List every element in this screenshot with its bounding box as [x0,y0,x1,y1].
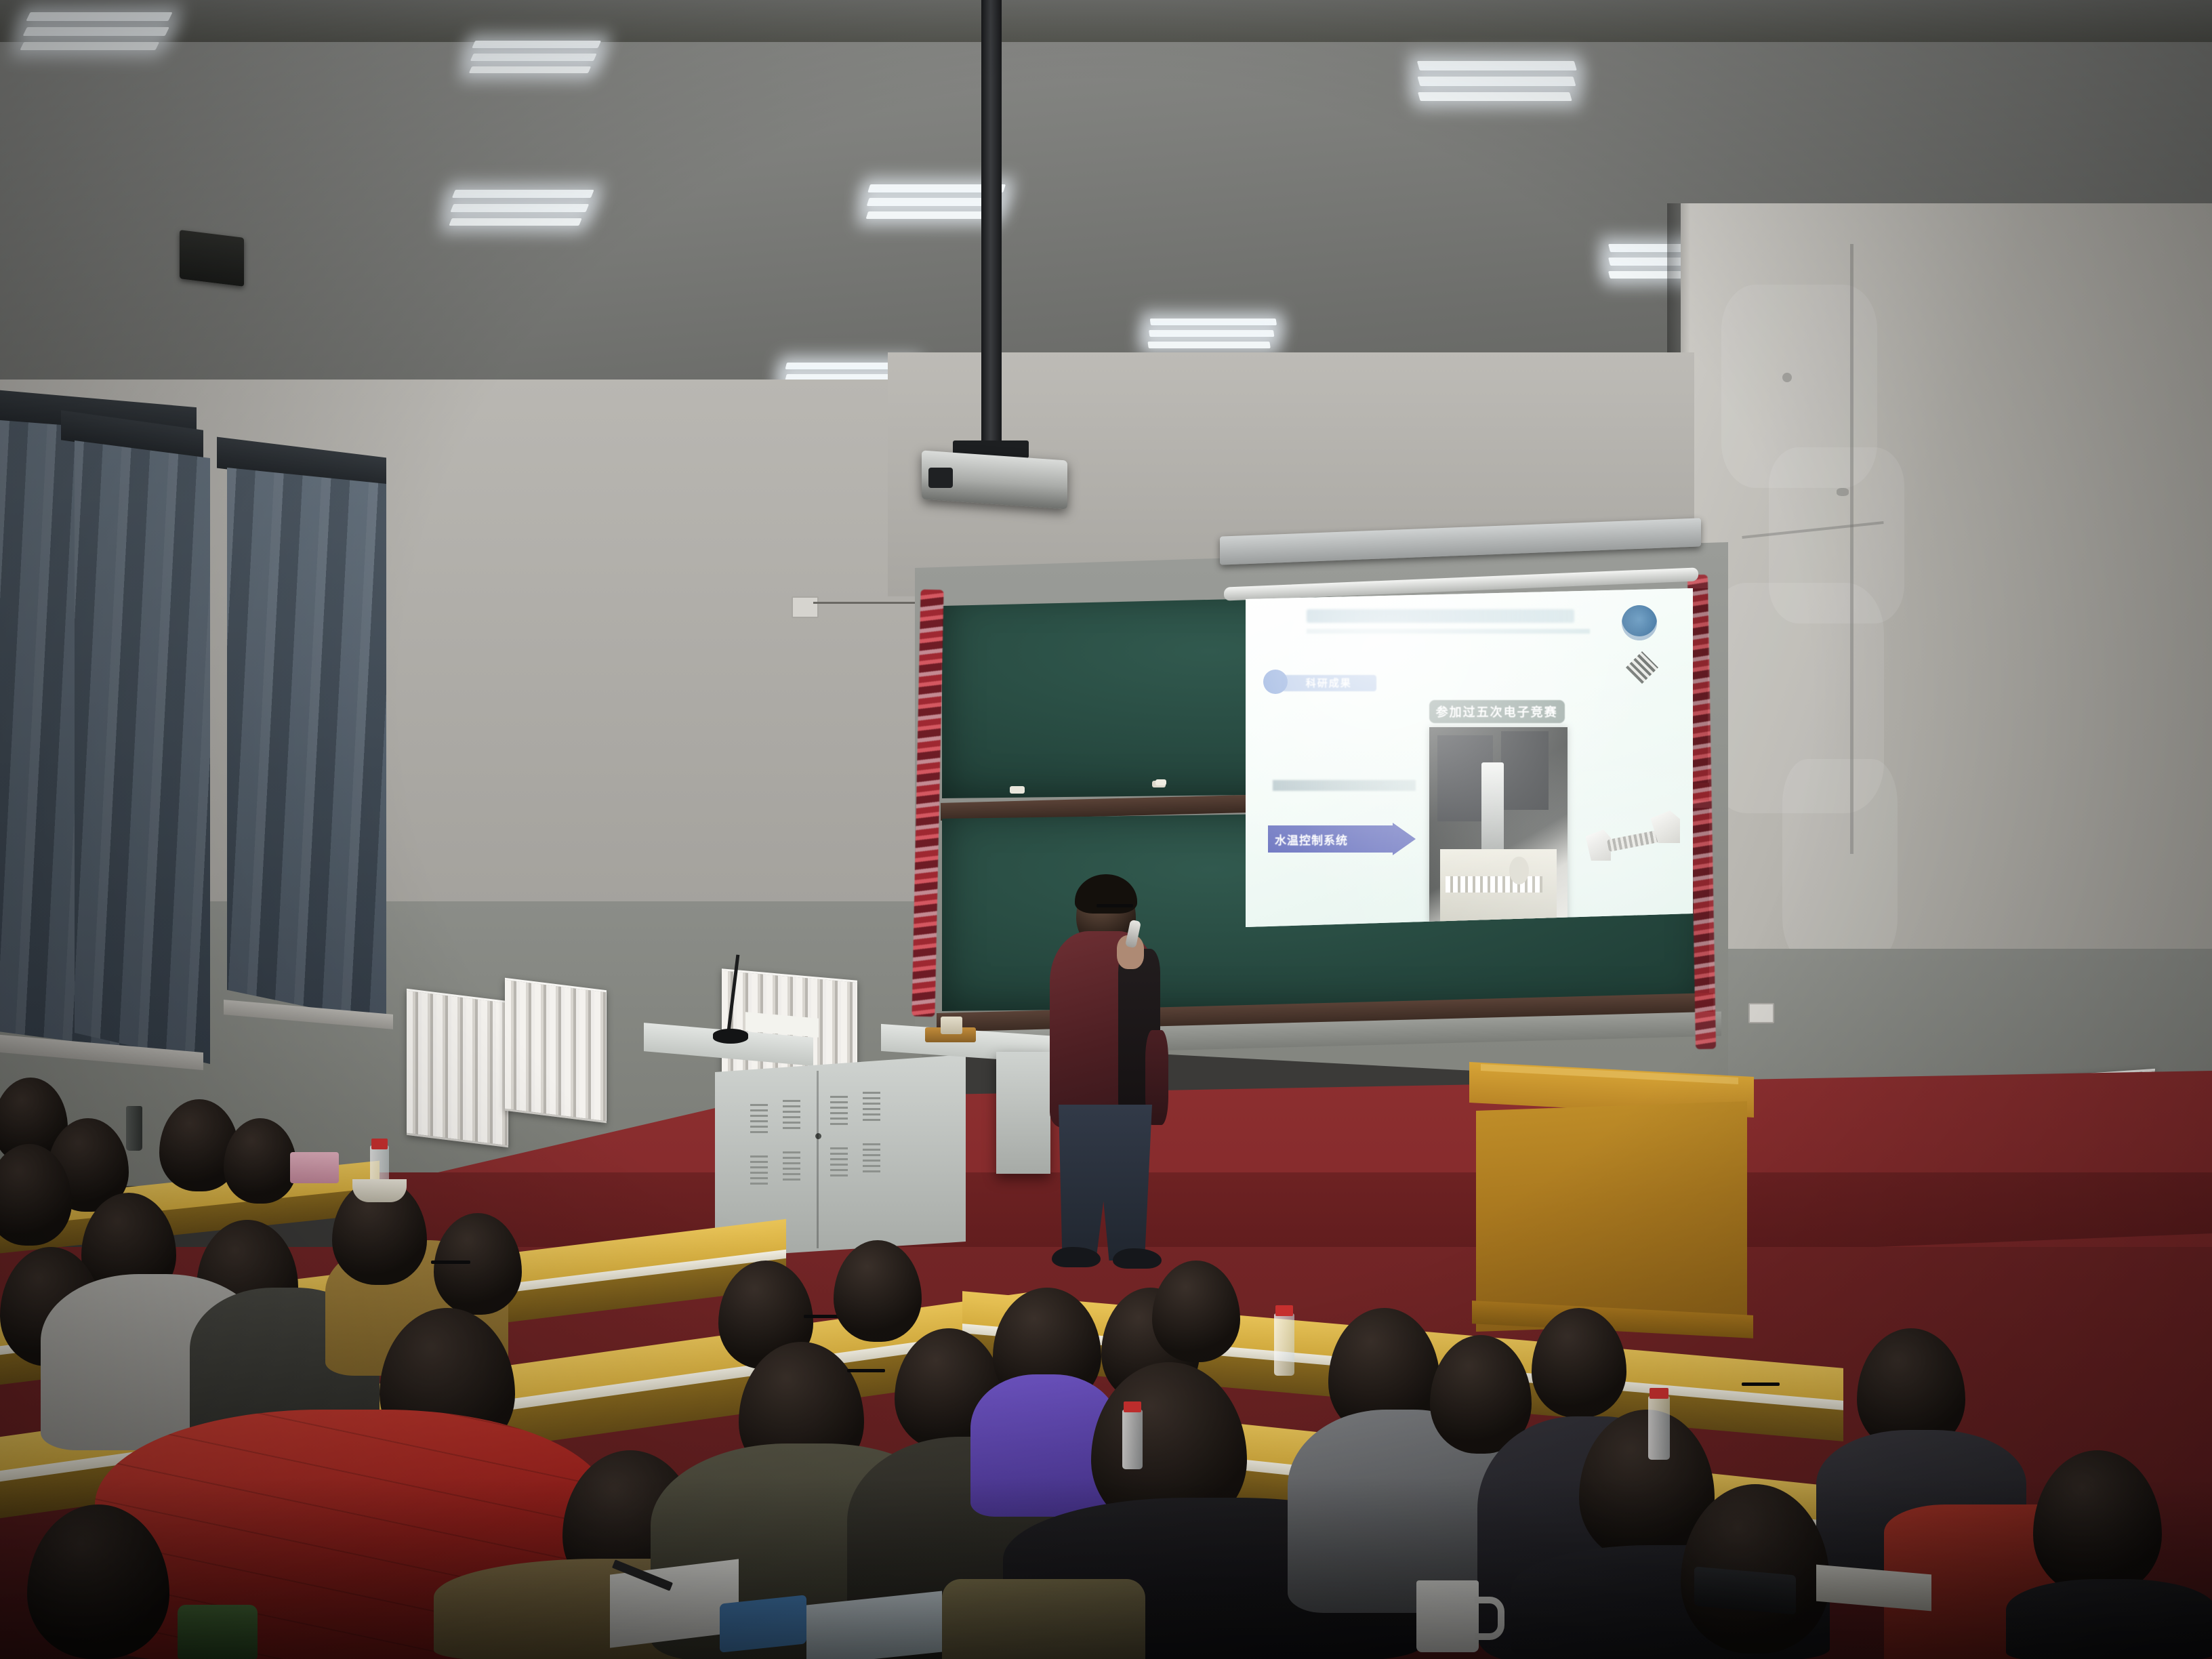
water-bottle [1122,1410,1143,1469]
slide-diamond-icon [1626,651,1658,684]
slide-arrow-label: 水温控制系统 [1275,831,1348,848]
bowl [352,1179,407,1202]
slide-header: 工学院 电子科学与电气工程学院 School of Electronic Sci… [1263,605,1657,646]
lecture-hall-photo: 工学院 电子科学与电气工程学院 School of Electronic Sci… [0,0,2212,1659]
wall-speaker [180,230,244,287]
water-bottle [126,1106,142,1151]
window-curtain-left-2 [75,441,210,1064]
projector-lens-icon [928,468,953,488]
water-bottle [1648,1396,1670,1460]
water-bottle-cap [371,1139,388,1149]
slide-cad-render [1586,805,1684,873]
chalk-piece [1155,779,1166,785]
audience-glasses-icon [804,1315,839,1318]
audience-glasses-icon [1742,1382,1780,1386]
ceiling-soffit [0,0,2212,42]
water-bottle-cap [1124,1401,1141,1412]
console-right-table-leg [996,1052,1050,1174]
light-panel [460,41,611,75]
column-radiator [505,978,607,1123]
column-radiator [407,989,508,1147]
chalk-piece [1010,786,1025,794]
water-bottle-cap [1275,1305,1293,1316]
wooden-lectern [1476,1101,1747,1332]
small-cup-on-table [941,1017,962,1034]
presenter-glasses-icon [1097,904,1133,907]
water-bottle-cap [1650,1388,1668,1399]
slide-section-tag: 科研成果 [1282,675,1376,691]
projection-screen: 工学院 电子科学与电气工程学院 School of Electronic Sci… [1246,588,1693,927]
slide-process-arrow: 水温控制系统 [1268,825,1416,853]
wall-socket [1748,1003,1774,1023]
projector-mount-pole [981,0,1002,447]
slide-callout-badge: 参加过五次电子竞赛 [1429,700,1565,723]
university-logo-icon [1622,605,1657,640]
slide-header-subtitle: School of Electronic Science and Electri… [1307,629,1590,634]
audience-glasses-icon [431,1261,470,1264]
slide-photo [1429,727,1568,924]
slide-caption: 2014年吉林省电子设计竞赛 [1273,780,1416,791]
wall-socket [792,596,819,618]
light-panel [10,12,186,53]
scene-title: University lecture hall presentation [0,0,10,1]
foreground-shadow [0,1477,2212,1659]
water-bottle [1274,1313,1294,1376]
microphone-base [713,1029,748,1044]
slide-header-institution: 工学院 电子科学与电气工程学院 [1307,609,1574,623]
audience-glasses-icon [847,1369,885,1372]
console-door-seam [817,1071,819,1248]
window-curtain-center [227,468,386,1023]
light-panel [1150,319,1290,351]
pink-cup [290,1152,339,1183]
presentation-slide: 工学院 电子科学与电气工程学院 School of Electronic Sci… [1246,588,1693,927]
light-panel [1417,61,1599,104]
light-panel [439,190,604,229]
